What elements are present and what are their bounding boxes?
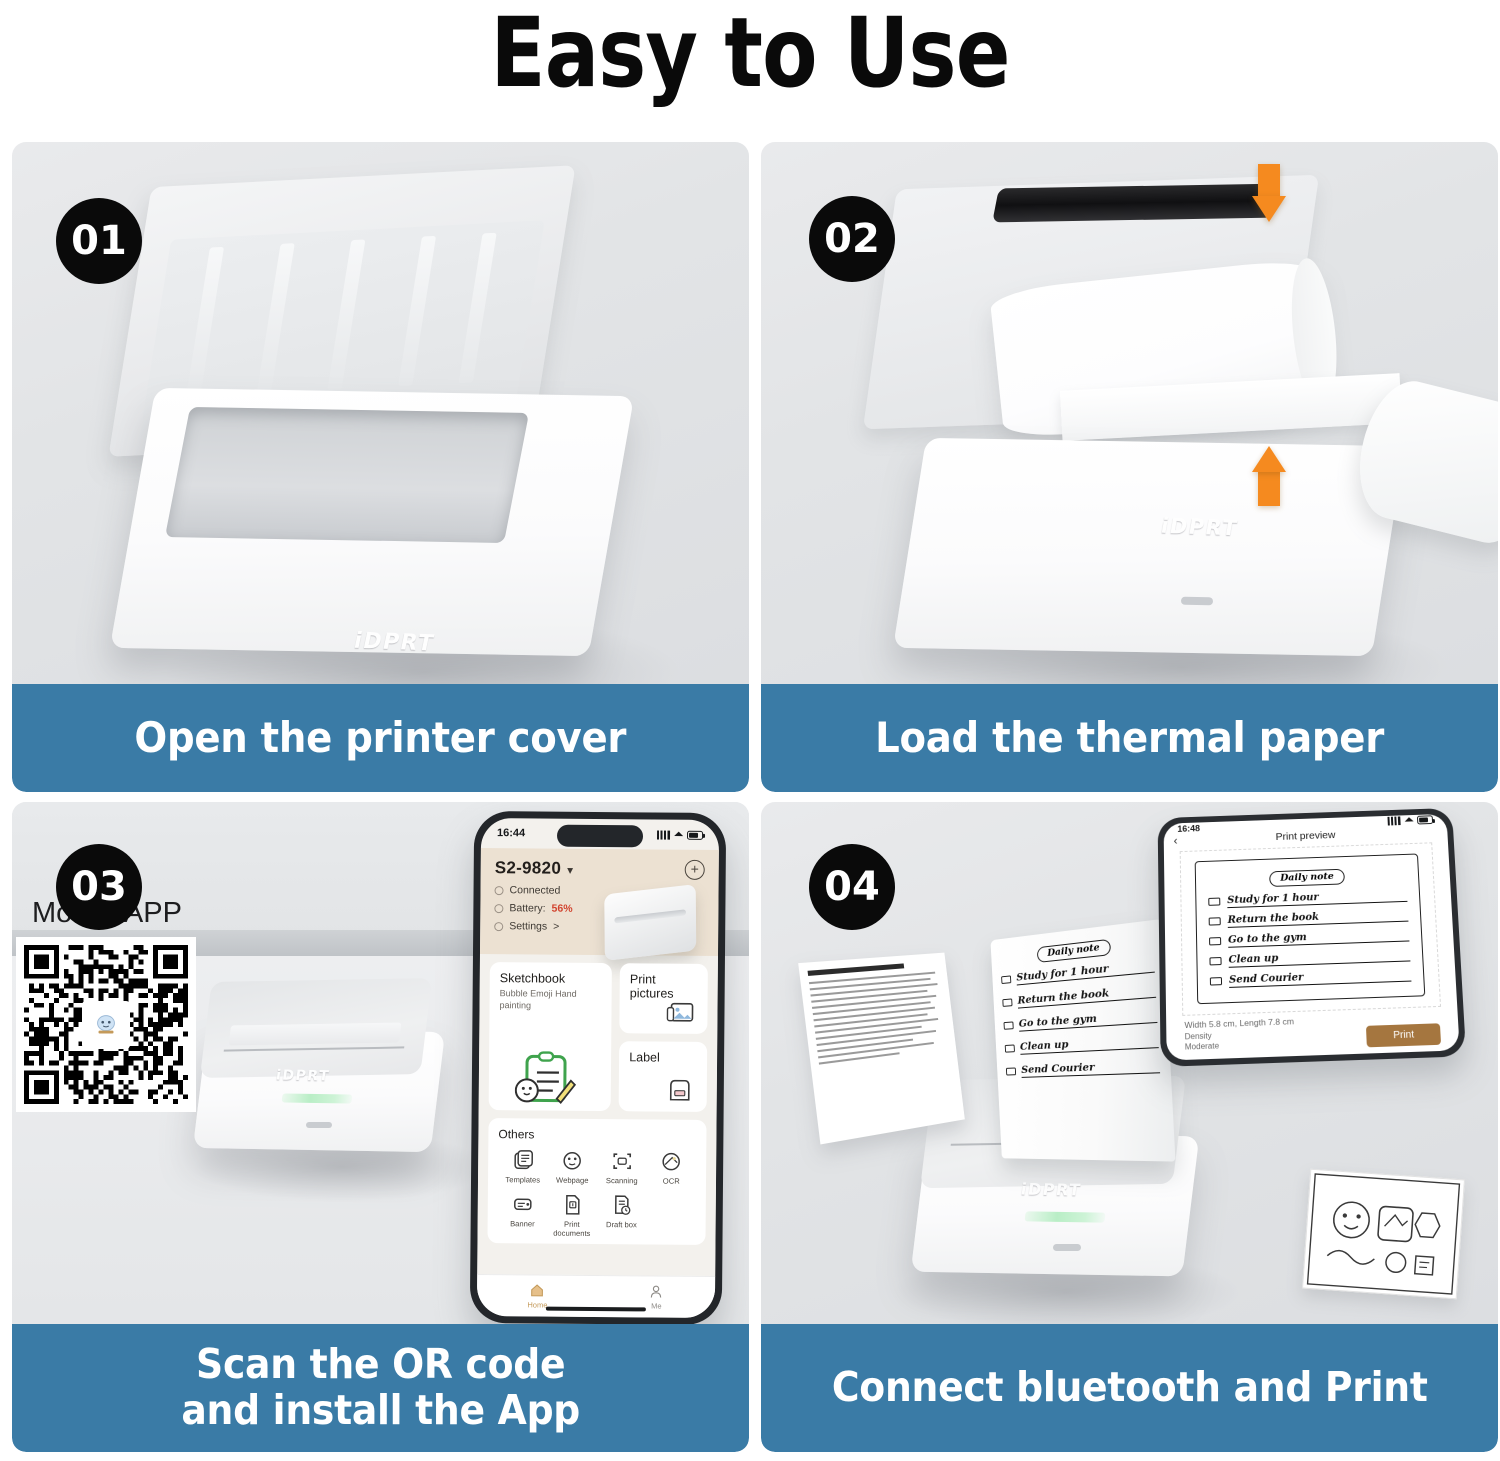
step-badge-3: 03 <box>56 844 142 930</box>
chevron-right-icon: > <box>553 921 559 933</box>
label-icon <box>665 1078 695 1104</box>
others-item-templates[interactable]: Templates <box>498 1148 548 1185</box>
tab-me-label: Me <box>651 1301 662 1310</box>
lid-rib <box>398 236 436 387</box>
density-label: Density <box>1185 1031 1212 1041</box>
card-label-title: Label <box>629 1050 697 1065</box>
print-preview-screen: 16:48 ⏶ ‹ Print preview <box>1164 814 1460 1061</box>
print-documents-icon <box>560 1193 584 1217</box>
receipt-note-row: Send Courier <box>1006 1058 1160 1078</box>
others-label-scanning: Scanning <box>606 1176 638 1185</box>
tab-home-label: Home <box>527 1300 547 1309</box>
others-item-banner[interactable]: Banner <box>498 1192 548 1238</box>
preview-note-item: Return the book <box>1228 908 1409 927</box>
others-label-templates: Templates <box>505 1175 540 1184</box>
others-item-webpage[interactable]: Webpage <box>547 1149 597 1186</box>
step-panel-1: 01 iDPRT <box>12 142 749 792</box>
step-2-caption-text: Load the thermal paper <box>875 714 1384 761</box>
printer-roller <box>992 184 1280 223</box>
others-section: Others <box>487 1118 706 1245</box>
status-led <box>282 1093 353 1103</box>
receipt-note-row: Clean up <box>1005 1033 1159 1055</box>
checkbox-icon <box>1005 1044 1015 1052</box>
step-1-caption-text: Open the printer cover <box>135 714 627 761</box>
receipt-note-item: Return the book <box>1017 983 1156 1009</box>
step-1-caption: Open the printer cover <box>12 684 749 792</box>
preview-note-item: Go to the gym <box>1228 928 1409 947</box>
step-4-caption: Connect bluetooth and Print <box>761 1324 1498 1452</box>
receipt-note-title: Daily note <box>1037 938 1111 962</box>
paper-compartment <box>165 407 529 543</box>
phone-device: 16:44 ⏶ S2-9820▼ <box>470 811 726 1324</box>
checkbox-icon <box>1004 1021 1014 1029</box>
step-4-photo: 04 <box>761 802 1498 1324</box>
picture-icon <box>665 1000 695 1026</box>
step-panel-4: 04 <box>761 802 1498 1452</box>
checkbox-icon <box>1209 937 1221 946</box>
step-badge-2: 02 <box>809 196 895 282</box>
others-label-webpage: Webpage <box>556 1176 588 1185</box>
paper-slot <box>229 1023 402 1046</box>
battery-value: 56% <box>552 903 573 915</box>
connection-dot-icon <box>495 886 504 895</box>
tab-home[interactable]: Home <box>527 1282 547 1309</box>
settings-label: Settings <box>509 920 547 932</box>
qr-code[interactable] <box>16 937 196 1112</box>
checkbox-icon <box>1001 975 1011 984</box>
step-badge-1: 01 <box>56 198 142 284</box>
receipt-note-item: Send Courier <box>1021 1058 1160 1077</box>
card-print-pictures[interactable]: Print pictures <box>619 963 707 1034</box>
page-title: Easy to Use <box>120 2 1380 106</box>
step-4-caption-text: Connect bluetooth and Print <box>832 1365 1428 1411</box>
others-label-print-documents: Print documents <box>547 1220 597 1239</box>
checkbox-icon <box>1209 957 1221 966</box>
printed-receipt: Daily note Study for 1 hour Return the b… <box>990 919 1175 1162</box>
step-1-photo: 01 iDPRT <box>12 142 749 684</box>
preview-note-title: Daily note <box>1269 868 1345 886</box>
banner-icon <box>510 1192 534 1216</box>
phone-screen: 16:44 ⏶ S2-9820▼ <box>477 818 719 1318</box>
receipt-note-row: Go to the gym <box>1003 1008 1157 1032</box>
others-label-draft-box: Draft box <box>606 1220 637 1229</box>
checkbox-icon <box>1002 998 1012 1006</box>
checkbox-icon <box>1208 897 1220 906</box>
settings-dot-icon <box>494 922 503 931</box>
battery-icon <box>1417 815 1433 824</box>
checkbox-icon <box>1209 917 1221 926</box>
step-2-caption: Load the thermal paper <box>761 684 1498 792</box>
checkbox-icon <box>1210 977 1222 986</box>
idprt-logo: iDPRT <box>1020 1179 1083 1199</box>
idprt-logo: iDPRT <box>1159 514 1240 541</box>
add-device-button[interactable]: + <box>685 860 705 880</box>
ocr-icon <box>659 1150 683 1174</box>
lid-rib <box>459 233 497 384</box>
wifi-icon: ⏶ <box>674 829 683 840</box>
preview-note-row: Go to the gym <box>1209 928 1409 948</box>
idprt-logo: iDPRT <box>352 629 437 657</box>
others-label-banner: Banner <box>510 1219 535 1228</box>
printed-paper-sheet <box>798 953 965 1145</box>
steps-grid: 01 iDPRT <box>12 142 1488 1452</box>
preview-canvas: Daily note Study for 1 hour Return the b… <box>1180 842 1441 1015</box>
easy-to-use-infographic: Easy to Use 01 <box>0 0 1500 1461</box>
sticker-illustration-icon <box>1303 1170 1464 1298</box>
status-led <box>1024 1211 1105 1222</box>
checkbox-icon <box>1006 1067 1016 1075</box>
wifi-icon: ⏶ <box>1404 815 1413 826</box>
cellular-signal-icon <box>657 830 670 839</box>
density-value: Moderate <box>1185 1042 1219 1052</box>
person-icon <box>648 1283 664 1299</box>
clipboard-pencil-icon <box>515 1050 577 1107</box>
qr-center-logo-icon <box>82 1001 130 1049</box>
print-button[interactable]: Print <box>1366 1023 1441 1047</box>
paper-heading <box>808 963 905 976</box>
card-sketchbook[interactable]: Sketchbook Bubble Emoji Hand painting <box>489 962 612 1111</box>
printer-hero-image <box>604 884 696 961</box>
phone-print-preview-device: 16:48 ⏶ ‹ Print preview <box>1158 808 1467 1067</box>
step-badge-4: 04 <box>809 844 895 930</box>
receipt-note-item: Clean up <box>1020 1033 1159 1054</box>
others-label-ocr: OCR <box>663 1177 680 1186</box>
card-print-pictures-title: Print pictures <box>630 972 698 1001</box>
others-item-ocr[interactable]: OCR <box>646 1149 696 1186</box>
device-name: S2-9820 <box>495 858 562 878</box>
battery-dot-icon <box>494 904 503 913</box>
printer-device: iDPRT <box>190 972 450 1172</box>
others-item-empty <box>646 1194 696 1240</box>
idprt-logo: iDPRT <box>275 1068 331 1085</box>
card-sketchbook-title: Sketchbook <box>500 971 602 986</box>
step-panel-2: 02 iDPRT Load the thermal paper <box>761 142 1498 792</box>
battery-icon <box>687 830 703 839</box>
chevron-down-icon: ▼ <box>565 866 575 877</box>
draft-box-icon <box>609 1193 633 1217</box>
step-panel-3: 03 Mobile APP <box>12 802 749 1452</box>
lid-rib <box>327 239 365 390</box>
app-content: Sketchbook Bubble Emoji Hand painting <box>477 954 718 1276</box>
load-arrow-down-icon <box>1252 196 1286 222</box>
status-time: 16:44 <box>497 827 525 839</box>
preview-note-item: Send Courier <box>1229 968 1412 987</box>
arrow-up-shaft <box>1258 472 1280 506</box>
card-label[interactable]: Label <box>619 1041 707 1112</box>
home-icon <box>529 1282 545 1298</box>
density-setting[interactable]: Density Moderate <box>1185 1030 1220 1053</box>
step-3-caption: Scan the OR code and install the App <box>12 1324 749 1452</box>
step-3-photo: 03 Mobile APP <box>12 802 749 1324</box>
lid-rib <box>186 247 224 398</box>
phone-status-bar: 16:44 ⏶ <box>481 818 719 850</box>
app-device-hero: S2-9820▼ + Connected <box>480 848 719 956</box>
note-frame: Daily note Study for 1 hour Return the b… <box>1195 853 1426 1003</box>
preview-note-row: Send Courier <box>1210 968 1412 988</box>
tab-me[interactable]: Me <box>648 1283 664 1310</box>
others-title: Others <box>498 1127 696 1143</box>
device-selector[interactable]: S2-9820▼ <box>495 858 575 879</box>
others-item-scanning[interactable]: Scanning <box>597 1149 647 1186</box>
webpage-icon <box>560 1149 584 1173</box>
lid-rib <box>257 243 295 394</box>
preview-status-time: 16:48 <box>1177 823 1200 833</box>
step-2-photo: 02 iDPRT <box>761 142 1498 684</box>
app-tab-bar: Home Me <box>477 1274 715 1318</box>
cellular-signal-icon <box>1388 816 1401 825</box>
sticker-sheet <box>1302 1169 1465 1300</box>
connection-status-label: Connected <box>509 884 560 896</box>
card-sketchbook-subtitle: Bubble Emoji Hand painting <box>499 988 601 1012</box>
usb-port <box>1053 1244 1081 1251</box>
others-item-print-documents[interactable]: Print documents <box>547 1193 597 1239</box>
usb-port <box>1181 597 1213 606</box>
receipt-note-item: Go to the gym <box>1019 1008 1158 1031</box>
battery-label: Battery: <box>509 902 545 914</box>
others-item-draft-box[interactable]: Draft box <box>597 1193 647 1239</box>
home-indicator <box>546 1307 646 1312</box>
arrow-down-shaft <box>1258 164 1280 198</box>
receipt-note-row: Return the book <box>1002 983 1156 1010</box>
load-arrow-up-icon <box>1252 446 1286 472</box>
step-3-caption-line1: Scan the OR code <box>181 1342 580 1388</box>
preview-note-row: Clean up <box>1209 948 1410 968</box>
step-3-caption-line2: and install the App <box>181 1388 580 1434</box>
usb-port <box>306 1122 332 1128</box>
printer-base <box>893 438 1405 656</box>
scanning-icon <box>610 1149 634 1173</box>
templates-icon <box>511 1148 535 1172</box>
preview-note-row: Return the book <box>1209 908 1409 928</box>
preview-note-item: Clean up <box>1228 948 1410 967</box>
others-grid: Templates <box>498 1148 697 1239</box>
